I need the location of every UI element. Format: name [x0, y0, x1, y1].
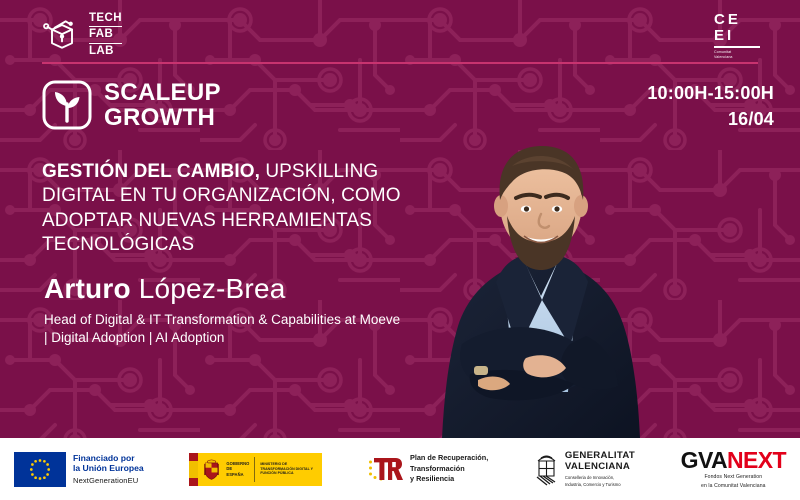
eu-funding-logo: Financiado por la Unión Europea NextGene…: [14, 452, 144, 487]
gobierno-line-2: DE ESPAÑA: [226, 466, 249, 477]
speaker-name: Arturo López-Brea: [44, 272, 404, 305]
eu-line-1: Financiado por: [73, 453, 144, 464]
gva-next-black: GVA: [681, 447, 727, 473]
eu-stars: [14, 452, 66, 487]
schedule-block: 10:00H-15:00H 16/04: [647, 80, 774, 132]
event-poster: TECH FAB LAB C E E I Comunitat Valencian…: [0, 0, 800, 500]
conselleria-line-1: Conselleria de Innovación,: [565, 475, 635, 481]
header-divider-line: [42, 62, 758, 64]
gva-next-sub-1: Fondos Next Generation: [681, 474, 786, 481]
tfl-line-tech: TECH: [89, 11, 122, 26]
conselleria-line-2: Industria, Comercio y Turismo: [565, 482, 635, 488]
ceei-divider-bar: [714, 46, 760, 48]
gva-next-wordmark: GVANEXT: [681, 449, 786, 472]
funding-footer: Financiado por la Unión Europea NextGene…: [0, 438, 800, 500]
eu-funding-text: Financiado por la Unión Europea NextGene…: [73, 453, 144, 486]
sprout-plant-icon: [42, 80, 92, 130]
ceei-letter-e1: E: [728, 12, 738, 27]
gva-next-logo: GVANEXT Fondos Next Generation en la Com…: [681, 449, 786, 490]
gva-next-red: NEXT: [727, 447, 786, 473]
ceei-subtitle-line2: Valenciana: [714, 55, 778, 60]
ministerio-text: MINISTERIO DE TRANSFORMACIÓN DIGITAL Y F…: [260, 462, 322, 476]
generalitat-text: GENERALITAT VALENCIANA Conselleria de In…: [565, 450, 635, 488]
eu-line-2: la Unión Europea: [73, 463, 144, 474]
event-time: 10:00H-15:00H: [647, 80, 774, 106]
spain-coat-of-arms-icon: [202, 456, 221, 482]
eu-flag-icon: [14, 452, 66, 487]
tech-fab-lab-wordmark: TECH FAB LAB: [89, 11, 122, 59]
top-bar: TECH FAB LAB C E E I Comunitat Valencian…: [0, 0, 800, 62]
scaleup-line-2: GROWTH: [104, 105, 221, 130]
ceei-letter-c: C: [714, 12, 725, 27]
scaleup-growth-logo[interactable]: SCALEUP GROWTH: [42, 80, 221, 131]
gobierno-text: GOBIERNO DE ESPAÑA: [226, 461, 249, 477]
speaker-photo: [418, 130, 718, 438]
prtr-line-3: y Resiliencia: [410, 474, 488, 484]
event-date: 16/04: [647, 106, 774, 132]
ceei-letter-i: I: [727, 28, 731, 43]
tfl-line-fab: FAB: [89, 26, 122, 42]
gva-next-sub-2: en la Comunitat Valenciana: [681, 483, 786, 490]
scaleup-growth-wordmark: SCALEUP GROWTH: [104, 80, 221, 131]
ceei-letter-e2: E: [714, 28, 724, 43]
speaker-last-name: López-Brea: [131, 273, 286, 304]
speaker-first-name: Arturo: [44, 273, 131, 304]
generalitat-line-1: GENERALITAT: [565, 450, 635, 461]
speaker-role: Head of Digital & IT Transformation & Ca…: [44, 311, 404, 347]
eu-line-3: NextGenerationEU: [73, 476, 144, 486]
tech-fab-lab-logo[interactable]: TECH FAB LAB: [42, 11, 122, 59]
generalitat-line-2: VALENCIANA: [565, 461, 635, 472]
prtr-line-1: Plan de Recuperación,: [410, 453, 488, 463]
prtr-line-2: Transformación: [410, 464, 488, 474]
generalitat-valenciana-logo: GENERALITAT VALENCIANA Conselleria de In…: [534, 450, 635, 488]
session-title: GESTIÓN DEL CAMBIO, UPSKILLING DIGITAL E…: [42, 160, 432, 257]
spain-flag-strip-icon: [189, 453, 198, 486]
gobierno-espana-logo: GOBIERNO DE ESPAÑA MINISTERIO DE TRANSFO…: [189, 453, 322, 486]
gobierno-separator: [254, 457, 255, 482]
tech-fab-lab-cube-icon: [42, 15, 82, 55]
speaker-block: Arturo López-Brea Head of Digital & IT T…: [44, 272, 404, 347]
ceei-letters: C E E I: [714, 12, 778, 43]
scaleup-line-1: SCALEUP: [104, 80, 221, 105]
prtr-logo: Plan de Recuperación, Transformación y R…: [368, 453, 488, 484]
prtr-tr-mark-icon: [368, 454, 404, 484]
session-title-highlight: GESTIÓN DEL CAMBIO,: [42, 161, 260, 182]
generalitat-crest-icon: [534, 452, 559, 486]
tfl-line-lab: LAB: [89, 43, 122, 59]
prtr-text: Plan de Recuperación, Transformación y R…: [410, 453, 488, 484]
ceei-logo[interactable]: C E E I Comunitat Valenciana: [714, 12, 778, 60]
